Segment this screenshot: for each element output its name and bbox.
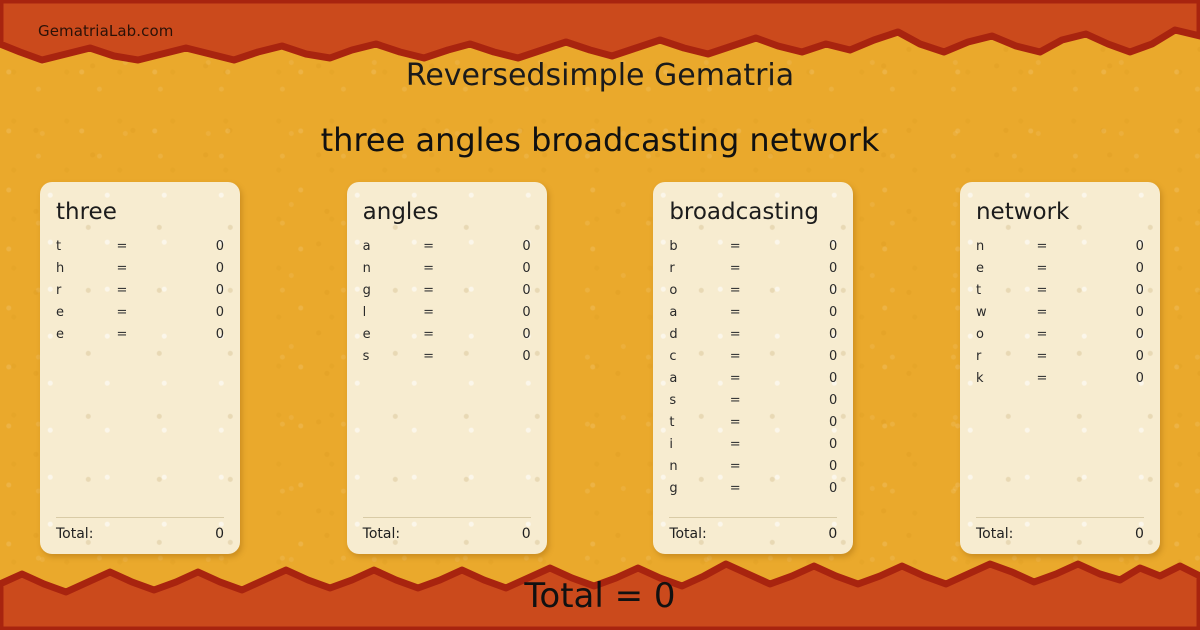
equals-sign: = <box>423 239 473 254</box>
letter-char: t <box>976 283 1036 298</box>
letter-char: n <box>363 261 423 276</box>
letter-value: 0 <box>167 239 224 254</box>
letter-row: o=0 <box>669 283 837 305</box>
letter-row: t=0 <box>669 415 837 437</box>
equals-sign: = <box>730 437 780 452</box>
letter-value: 0 <box>474 327 531 342</box>
letter-value: 0 <box>474 349 531 364</box>
letter-row: e=0 <box>976 261 1144 283</box>
equals-sign: = <box>116 283 166 298</box>
letter-char: r <box>976 349 1036 364</box>
letter-char: r <box>669 261 729 276</box>
word-card-total-label: Total: <box>976 526 1013 542</box>
letter-value: 0 <box>780 459 837 474</box>
equals-sign: = <box>423 349 473 364</box>
equals-sign: = <box>730 305 780 320</box>
equals-sign: = <box>1036 371 1086 386</box>
letter-row: e=0 <box>363 327 531 349</box>
letter-value: 0 <box>167 327 224 342</box>
word-card-total-label: Total: <box>669 526 706 542</box>
word-cards-container: threet=0h=0r=0e=0e=0Total:0anglesa=0n=0g… <box>40 182 1160 554</box>
letter-value: 0 <box>780 305 837 320</box>
letter-row: n=0 <box>363 261 531 283</box>
letter-value-list: a=0n=0g=0l=0e=0s=0 <box>363 239 531 517</box>
letter-value: 0 <box>167 305 224 320</box>
word-card-title: angles <box>363 200 531 225</box>
letter-row: n=0 <box>976 239 1144 261</box>
equals-sign: = <box>116 305 166 320</box>
word-card: networkn=0e=0t=0w=0o=0r=0k=0Total:0 <box>960 182 1160 554</box>
letter-row: e=0 <box>56 327 224 349</box>
letter-char: n <box>669 459 729 474</box>
letter-value: 0 <box>1087 327 1144 342</box>
letter-char: r <box>56 283 116 298</box>
letter-value: 0 <box>1087 239 1144 254</box>
letter-value: 0 <box>167 261 224 276</box>
letter-value: 0 <box>780 283 837 298</box>
letter-row: l=0 <box>363 305 531 327</box>
letter-value: 0 <box>780 327 837 342</box>
equals-sign: = <box>423 327 473 342</box>
equals-sign: = <box>116 239 166 254</box>
word-card-total-value: 0 <box>215 526 224 542</box>
watermark-label: GematriaLab.com <box>38 22 173 40</box>
letter-row: k=0 <box>976 371 1144 393</box>
word-card-total-label: Total: <box>363 526 400 542</box>
letter-row: g=0 <box>363 283 531 305</box>
letter-row: t=0 <box>56 239 224 261</box>
letter-char: a <box>669 305 729 320</box>
word-card-total-row: Total:0 <box>976 517 1144 542</box>
letter-value: 0 <box>1087 305 1144 320</box>
letter-row: n=0 <box>669 459 837 481</box>
equals-sign: = <box>1036 327 1086 342</box>
letter-value: 0 <box>1087 371 1144 386</box>
letter-row: r=0 <box>56 283 224 305</box>
letter-value-list: b=0r=0o=0a=0d=0c=0a=0s=0t=0i=0n=0g=0 <box>669 239 837 517</box>
letter-value: 0 <box>474 305 531 320</box>
letter-value: 0 <box>780 481 837 496</box>
word-card-total-row: Total:0 <box>363 517 531 542</box>
letter-char: b <box>669 239 729 254</box>
word-card-total-value: 0 <box>828 526 837 542</box>
equals-sign: = <box>116 261 166 276</box>
letter-row: a=0 <box>669 371 837 393</box>
word-card-total-value: 0 <box>1135 526 1144 542</box>
equals-sign: = <box>730 239 780 254</box>
letter-char: h <box>56 261 116 276</box>
equals-sign: = <box>730 283 780 298</box>
letter-row: a=0 <box>363 239 531 261</box>
letter-value: 0 <box>1087 349 1144 364</box>
letter-value: 0 <box>1087 261 1144 276</box>
letter-row: w=0 <box>976 305 1144 327</box>
letter-char: g <box>363 283 423 298</box>
gematria-card-image: GematriaLab.com Reversedsimple Gematria … <box>0 0 1200 630</box>
equals-sign: = <box>730 459 780 474</box>
equals-sign: = <box>730 261 780 276</box>
page-subtitle: three angles broadcasting network <box>0 121 1200 159</box>
letter-value: 0 <box>780 349 837 364</box>
letter-value: 0 <box>780 393 837 408</box>
letter-value: 0 <box>780 437 837 452</box>
letter-row: r=0 <box>976 349 1144 371</box>
letter-char: w <box>976 305 1036 320</box>
equals-sign: = <box>1036 239 1086 254</box>
equals-sign: = <box>1036 349 1086 364</box>
letter-char: t <box>669 415 729 430</box>
equals-sign: = <box>730 415 780 430</box>
letter-value: 0 <box>1087 283 1144 298</box>
letter-value: 0 <box>474 239 531 254</box>
letter-char: e <box>56 327 116 342</box>
letter-char: a <box>669 371 729 386</box>
letter-row: h=0 <box>56 261 224 283</box>
letter-char: g <box>669 481 729 496</box>
letter-char: e <box>363 327 423 342</box>
letter-char: s <box>669 393 729 408</box>
letter-value: 0 <box>780 239 837 254</box>
equals-sign: = <box>730 327 780 342</box>
equals-sign: = <box>730 349 780 364</box>
letter-row: t=0 <box>976 283 1144 305</box>
equals-sign: = <box>730 481 780 496</box>
letter-char: s <box>363 349 423 364</box>
word-card-total-row: Total:0 <box>56 517 224 542</box>
letter-row: d=0 <box>669 327 837 349</box>
letter-value: 0 <box>474 283 531 298</box>
letter-char: o <box>669 283 729 298</box>
letter-char: d <box>669 327 729 342</box>
letter-value: 0 <box>780 371 837 386</box>
letter-char: t <box>56 239 116 254</box>
word-card: anglesa=0n=0g=0l=0e=0s=0Total:0 <box>347 182 547 554</box>
equals-sign: = <box>116 327 166 342</box>
letter-char: n <box>976 239 1036 254</box>
equals-sign: = <box>730 371 780 386</box>
letter-row: r=0 <box>669 261 837 283</box>
equals-sign: = <box>423 305 473 320</box>
letter-value: 0 <box>474 261 531 276</box>
word-card: threet=0h=0r=0e=0e=0Total:0 <box>40 182 240 554</box>
word-card-total-row: Total:0 <box>669 517 837 542</box>
letter-char: i <box>669 437 729 452</box>
letter-value: 0 <box>780 261 837 276</box>
word-card-title: broadcasting <box>669 200 837 225</box>
equals-sign: = <box>1036 261 1086 276</box>
equals-sign: = <box>1036 305 1086 320</box>
page-title: Reversedsimple Gematria <box>0 58 1200 93</box>
letter-char: o <box>976 327 1036 342</box>
letter-char: e <box>976 261 1036 276</box>
letter-row: s=0 <box>363 349 531 371</box>
grand-total-label: Total = 0 <box>0 576 1200 616</box>
word-card-title: network <box>976 200 1144 225</box>
word-card-total-label: Total: <box>56 526 93 542</box>
letter-row: e=0 <box>56 305 224 327</box>
letter-char: c <box>669 349 729 364</box>
letter-row: b=0 <box>669 239 837 261</box>
word-card-total-value: 0 <box>522 526 531 542</box>
letter-row: i=0 <box>669 437 837 459</box>
letter-char: l <box>363 305 423 320</box>
letter-value-list: n=0e=0t=0w=0o=0r=0k=0 <box>976 239 1144 517</box>
letter-row: a=0 <box>669 305 837 327</box>
letter-char: e <box>56 305 116 320</box>
letter-value: 0 <box>780 415 837 430</box>
letter-value-list: t=0h=0r=0e=0e=0 <box>56 239 224 517</box>
letter-char: a <box>363 239 423 254</box>
word-card: broadcastingb=0r=0o=0a=0d=0c=0a=0s=0t=0i… <box>653 182 853 554</box>
equals-sign: = <box>423 261 473 276</box>
letter-row: c=0 <box>669 349 837 371</box>
letter-char: k <box>976 371 1036 386</box>
equals-sign: = <box>423 283 473 298</box>
word-card-title: three <box>56 200 224 225</box>
equals-sign: = <box>1036 283 1086 298</box>
letter-row: o=0 <box>976 327 1144 349</box>
equals-sign: = <box>730 393 780 408</box>
letter-row: g=0 <box>669 481 837 503</box>
letter-row: s=0 <box>669 393 837 415</box>
letter-value: 0 <box>167 283 224 298</box>
